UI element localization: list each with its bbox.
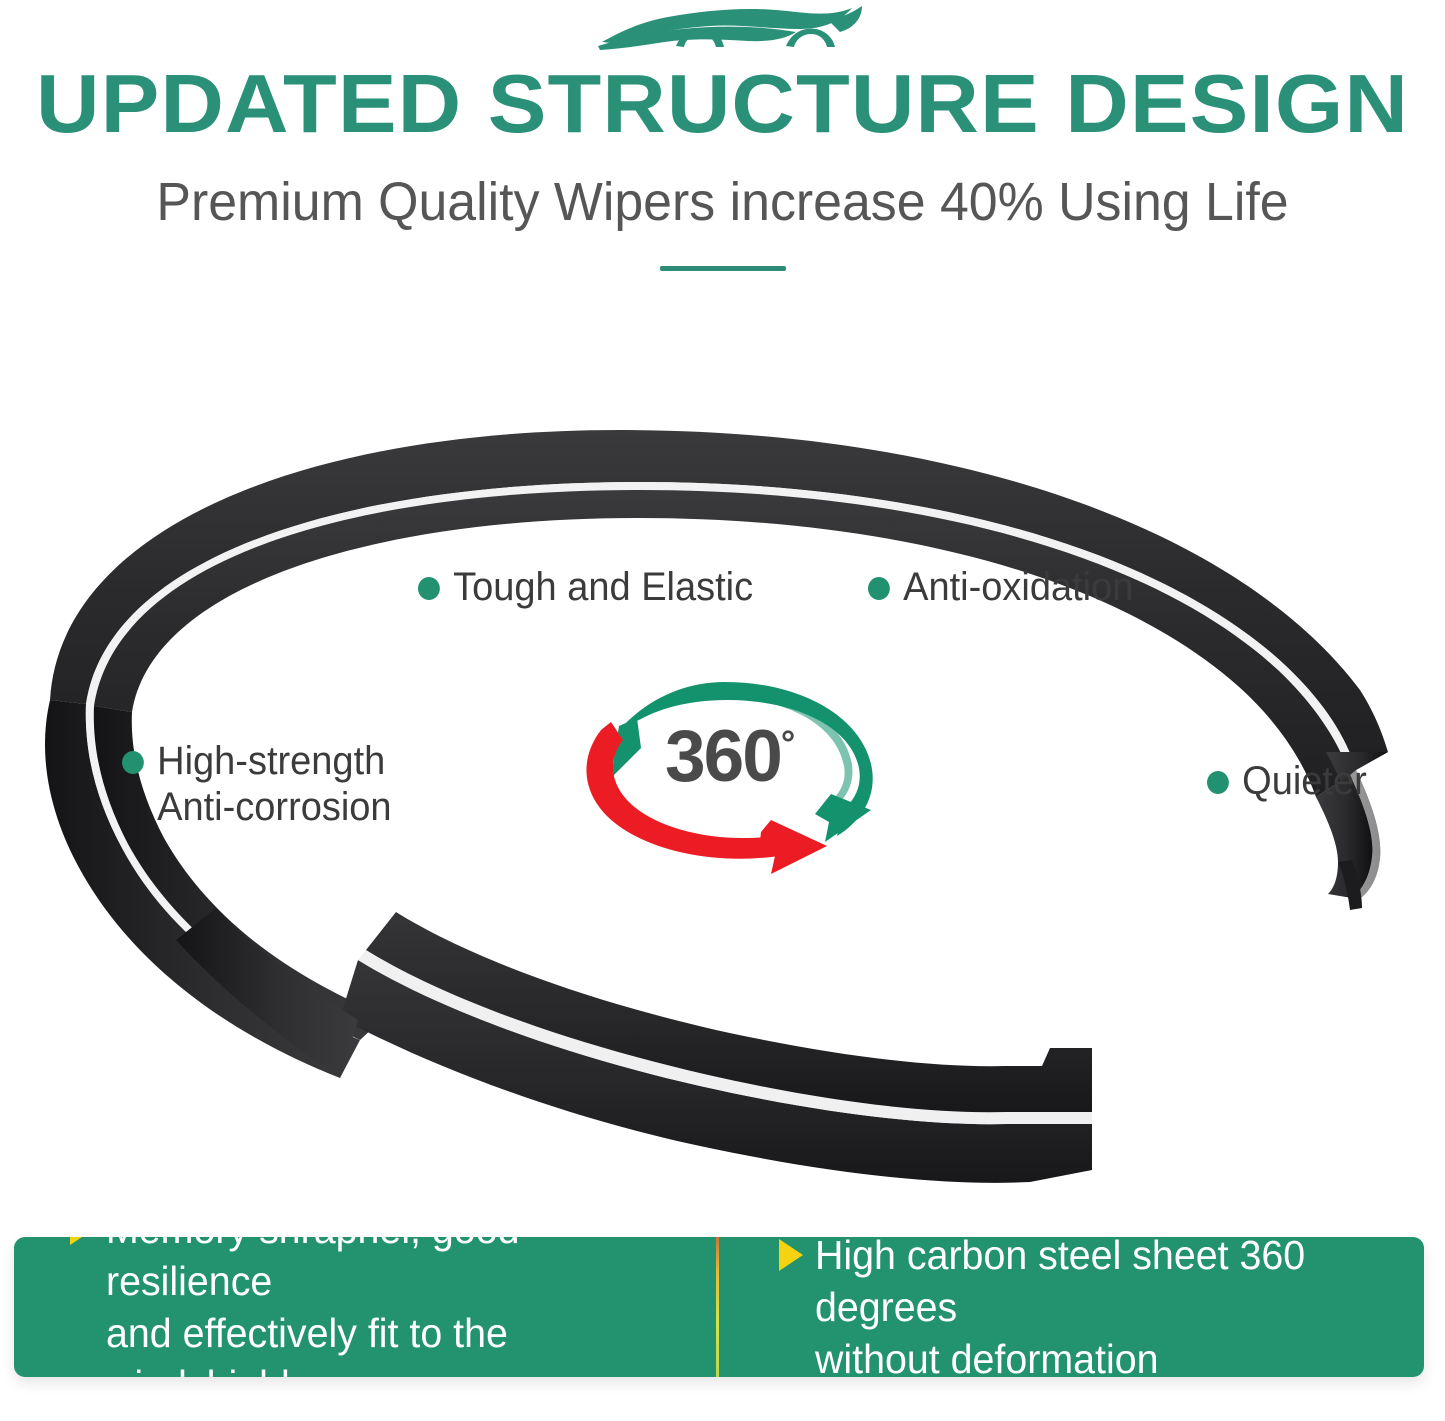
triangle-right-icon xyxy=(779,1239,803,1271)
360-rotation-icon: 360° xyxy=(575,660,915,875)
title-underline-divider xyxy=(660,266,786,271)
banner-item-memory-shrapnel: Memory shrapnel, good resilience and eff… xyxy=(14,1237,716,1377)
bullet-dot-icon xyxy=(1207,771,1229,794)
callout-tough-and-elastic: Tough and Elastic xyxy=(418,564,753,610)
callout-anti-oxidation: Anti-oxidation xyxy=(868,564,1133,610)
callout-high-strength-anti-corrosion: High-strength Anti-corrosion xyxy=(122,738,392,830)
page-subtitle: Premium Quality Wipers increase 40% Usin… xyxy=(29,170,1416,234)
triangle-right-icon xyxy=(70,1237,94,1245)
bullet-dot-icon xyxy=(868,577,890,600)
badge-number: 360° xyxy=(665,720,793,793)
callout-label: Quieter xyxy=(1242,758,1367,804)
page-title: UPDATED STRUCTURE DESIGN xyxy=(0,58,1445,150)
banner-item-text: High carbon steel sheet 360 degrees with… xyxy=(815,1237,1400,1377)
car-silhouette-icon xyxy=(590,2,870,58)
callout-quieter: Quieter xyxy=(1207,758,1367,804)
bullet-dot-icon xyxy=(418,577,440,600)
banner-item-text: Memory shrapnel, good resilience and eff… xyxy=(106,1237,691,1377)
banner-item-high-carbon-steel: High carbon steel sheet 360 degrees with… xyxy=(719,1237,1425,1377)
feature-banner: Memory shrapnel, good resilience and eff… xyxy=(14,1237,1424,1377)
bullet-dot-icon xyxy=(122,751,144,774)
callout-label: High-strength Anti-corrosion xyxy=(157,738,391,830)
callout-label: Tough and Elastic xyxy=(453,564,753,610)
callout-label: Anti-oxidation xyxy=(903,564,1133,610)
product-feature-infographic: UPDATED STRUCTURE DESIGN Premium Quality… xyxy=(0,0,1445,1421)
